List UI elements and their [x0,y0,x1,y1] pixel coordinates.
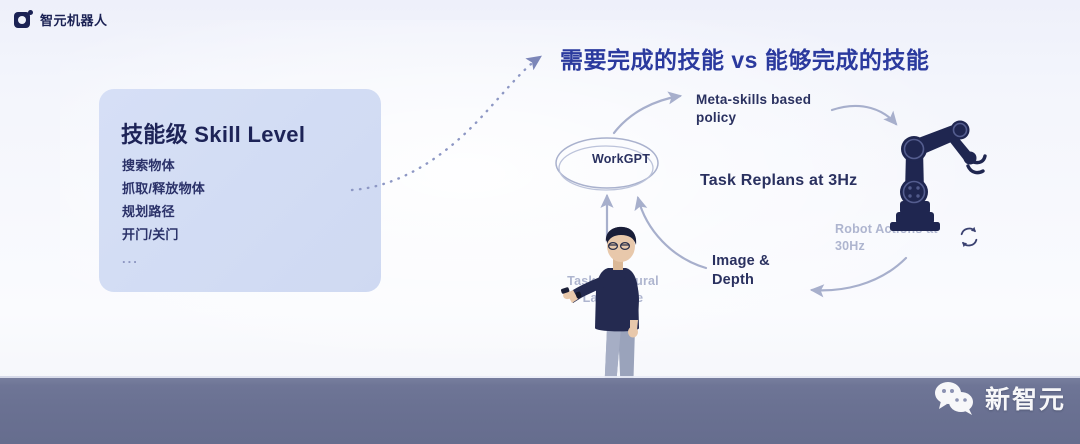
workgpt-node-label: WorkGPT [576,152,666,166]
stage-floor [0,378,1080,444]
brand-name: 智元机器人 [40,10,108,29]
presentation-stage: 智元机器人 技能级 Skill Level 搜索物体 抓取/释放物体 规划路径 … [0,0,1080,444]
skill-level-card: 技能级 Skill Level 搜索物体 抓取/释放物体 规划路径 开门/关门 … [99,89,381,292]
task-replans-label: Task Replans at 3Hz [700,172,857,190]
list-item-ellipsis: ... [122,246,205,272]
channel-watermark: 新智元 [933,380,1066,416]
list-item: 抓取/释放物体 [122,177,205,200]
skill-card-list: 搜索物体 抓取/释放物体 规划路径 开门/关门 ... [122,154,205,272]
meta-skills-label: Meta-skills based policy [696,91,826,127]
watermark-text: 新智元 [985,380,1066,416]
wechat-icon [933,380,977,416]
list-item: 搜索物体 [122,154,205,177]
zhiyuan-robotics-logo-icon [14,10,33,29]
brand-logo: 智元机器人 [14,10,108,29]
list-item: 开门/关门 [122,223,205,246]
slide-headline: 需要完成的技能 vs 能够完成的技能 [560,41,929,75]
skill-card-title: 技能级 Skill Level [121,117,305,149]
list-item: 规划路径 [122,200,205,223]
arrow-workgpt-to-metaskills [614,96,680,133]
arrow-robot-to-image-depth [812,258,906,290]
robot-arm-icon [876,100,996,240]
image-depth-label: Image & Depth [712,252,802,290]
